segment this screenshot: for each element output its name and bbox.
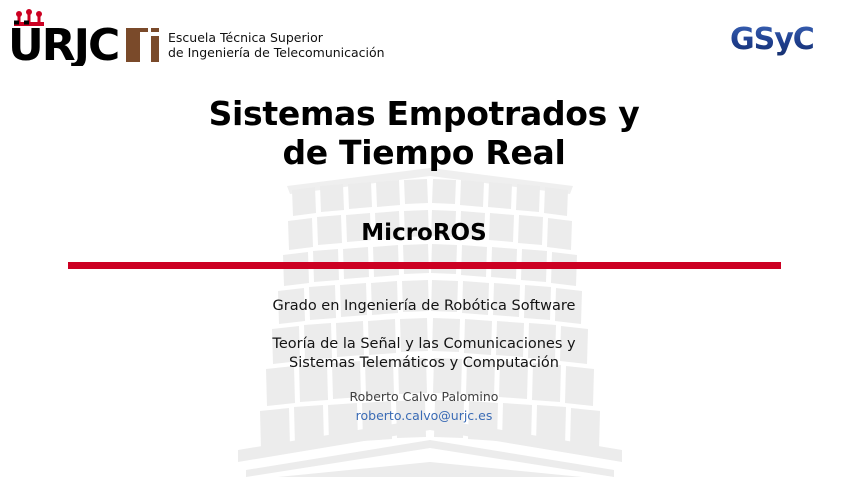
- author-name: Roberto Calvo Palomino: [0, 389, 848, 405]
- ti-monogram-icon: [126, 28, 160, 62]
- department-block: Teoría de la Señal y las Comunicaciones …: [0, 335, 848, 373]
- svg-text:URJC: URJC: [8, 20, 118, 66]
- etsit-label: Escuela Técnica Superior de Ingeniería d…: [168, 30, 385, 60]
- gsyc-logo: GSyC: [728, 16, 826, 60]
- subtitle: MicroROS: [0, 219, 848, 247]
- urjc-logo: URJC: [8, 8, 120, 66]
- gsyc-wordmark: GSyC: [730, 22, 814, 57]
- author-block: Roberto Calvo Palomino roberto.calvo@urj…: [0, 389, 848, 424]
- red-divider: [68, 262, 781, 269]
- etsit-logo: Escuela Técnica Superior de Ingeniería d…: [126, 28, 385, 62]
- department-line-1: Teoría de la Señal y las Comunicaciones …: [0, 335, 848, 354]
- department-line-2: Sistemas Telemáticos y Computación: [0, 354, 848, 373]
- etsit-line-2: de Ingeniería de Telecomunicación: [168, 45, 385, 60]
- title-line-2: de Tiempo Real: [0, 133, 848, 172]
- title-line-1: Sistemas Empotrados y: [0, 94, 848, 133]
- etsit-line-1: Escuela Técnica Superior: [168, 30, 385, 45]
- title-slide: URJC Escuela Técnica Superior: [0, 0, 848, 477]
- slide-header: URJC Escuela Técnica Superior: [0, 0, 848, 78]
- title-block: Sistemas Empotrados y de Tiempo Real: [0, 94, 848, 172]
- info-block: Grado en Ingeniería de Robótica Software…: [0, 297, 848, 373]
- degree-label: Grado en Ingeniería de Robótica Software: [0, 297, 848, 316]
- author-email-link[interactable]: roberto.calvo@urjc.es: [356, 408, 493, 423]
